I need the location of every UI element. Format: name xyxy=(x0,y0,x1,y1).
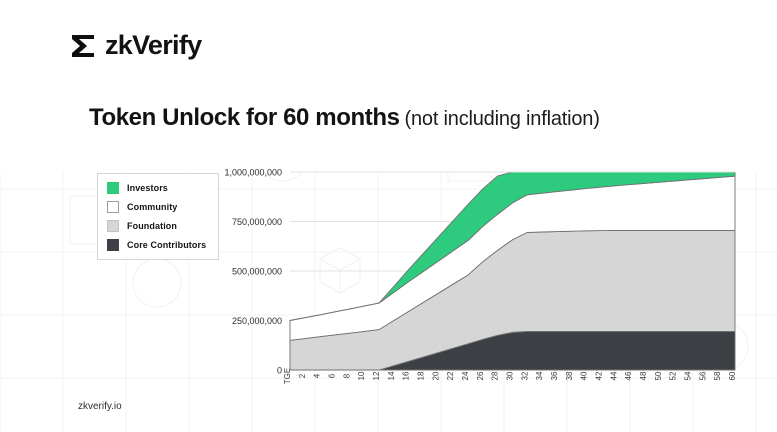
x-tick-label: 40 xyxy=(580,371,589,380)
plot-top-mask xyxy=(0,0,777,172)
x-tick-label: 50 xyxy=(654,371,663,380)
legend-swatch-community xyxy=(107,201,119,213)
x-tick-label: 58 xyxy=(713,371,722,380)
x-tick-label: 8 xyxy=(342,373,351,378)
x-tick-label: 24 xyxy=(461,371,470,380)
x-tick-label: 46 xyxy=(624,371,633,380)
title-subtitle-text: (not including inflation) xyxy=(405,108,600,130)
chart-legend: Investors Community Foundation Core Cont… xyxy=(97,173,219,260)
x-tick-label: 26 xyxy=(476,371,485,380)
legend-label-investors: Investors xyxy=(127,183,168,193)
x-tick-label: 52 xyxy=(669,371,678,380)
x-tick-label: 44 xyxy=(609,371,618,380)
brand-wordmark: zkVerify xyxy=(105,32,201,59)
legend-swatch-investors xyxy=(107,182,119,194)
x-tick-label: TGE xyxy=(283,368,292,384)
x-tick-label: 6 xyxy=(328,373,337,378)
legend-label-core-contributors: Core Contributors xyxy=(127,240,206,250)
brand-logo: zkVerify xyxy=(70,32,201,59)
x-tick-label: 60 xyxy=(728,371,737,380)
x-tick-label: 28 xyxy=(491,371,500,380)
x-tick-label: 32 xyxy=(520,371,529,380)
page-title: Token Unlock for 60 months(not including… xyxy=(89,104,600,132)
legend-label-foundation: Foundation xyxy=(127,221,177,231)
x-tick-label: 4 xyxy=(313,373,322,378)
x-tick-label: 48 xyxy=(639,371,648,380)
legend-label-community: Community xyxy=(127,202,177,212)
x-tick-label: 12 xyxy=(372,371,381,380)
x-tick-label: 56 xyxy=(698,371,707,380)
y-tick-label: 1,000,000,000 xyxy=(224,168,282,178)
y-axis-labels: 0250,000,000500,000,000750,000,0001,000,… xyxy=(224,168,282,376)
legend-swatch-core-contributors xyxy=(107,239,119,251)
y-tick-label: 250,000,000 xyxy=(232,316,282,326)
title-main-text: Token Unlock for 60 months xyxy=(89,104,400,131)
x-tick-label: 38 xyxy=(565,371,574,380)
y-tick-label: 500,000,000 xyxy=(232,267,282,277)
legend-item-investors[interactable]: Investors xyxy=(107,182,206,194)
zkverify-hourglass-icon xyxy=(70,33,96,59)
y-tick-label: 0 xyxy=(277,366,282,376)
x-tick-label: 54 xyxy=(684,371,693,380)
x-tick-label: 36 xyxy=(550,371,559,380)
legend-item-foundation[interactable]: Foundation xyxy=(107,220,206,232)
y-tick-label: 750,000,000 xyxy=(232,217,282,227)
x-tick-label: 42 xyxy=(595,371,604,380)
footer-url: zkverify.io xyxy=(78,401,122,412)
legend-item-core-contributors[interactable]: Core Contributors xyxy=(107,239,206,251)
legend-swatch-foundation xyxy=(107,220,119,232)
x-tick-label: 2 xyxy=(298,373,307,378)
legend-item-community[interactable]: Community xyxy=(107,201,206,213)
x-tick-label: 16 xyxy=(402,371,411,380)
x-tick-label: 14 xyxy=(387,371,396,380)
x-tick-label: 34 xyxy=(535,371,544,380)
x-tick-label: 10 xyxy=(357,371,366,380)
x-tick-label: 30 xyxy=(506,371,515,380)
x-tick-label: 22 xyxy=(446,371,455,380)
x-tick-label: 18 xyxy=(417,371,426,380)
x-tick-label: 20 xyxy=(431,371,440,380)
